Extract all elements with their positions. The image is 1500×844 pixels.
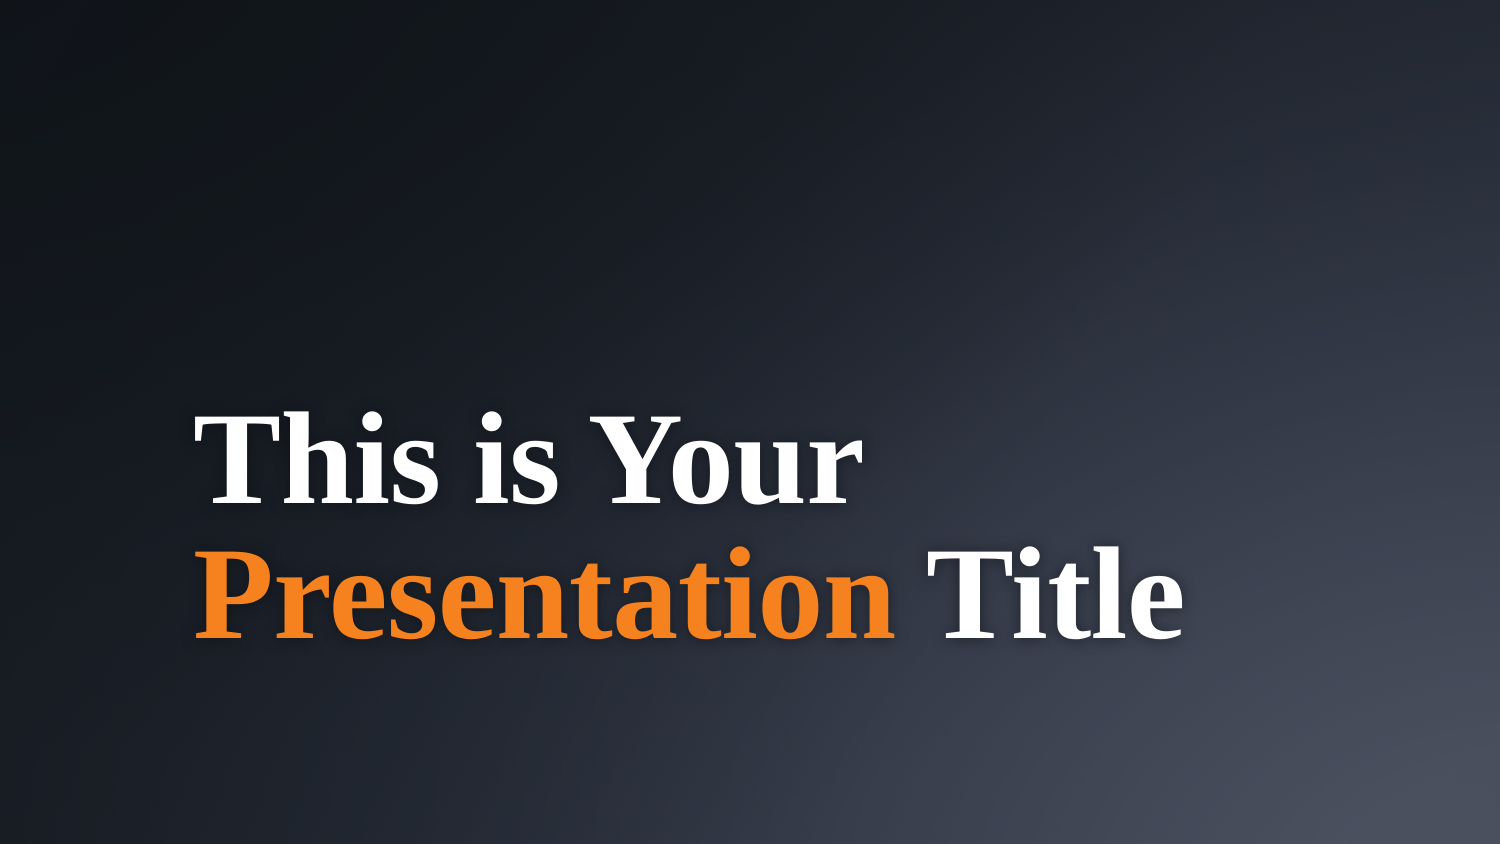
slide-title-block: This is Your Presentation Title [193,392,1453,660]
presentation-slide: This is Your Presentation Title [0,0,1500,844]
title-line-1[interactable]: This is Your [193,392,1453,525]
title-line-2[interactable]: Presentation Title [193,527,1453,660]
title-plain-word: Title [896,520,1185,667]
title-accent-word: Presentation [193,520,896,667]
